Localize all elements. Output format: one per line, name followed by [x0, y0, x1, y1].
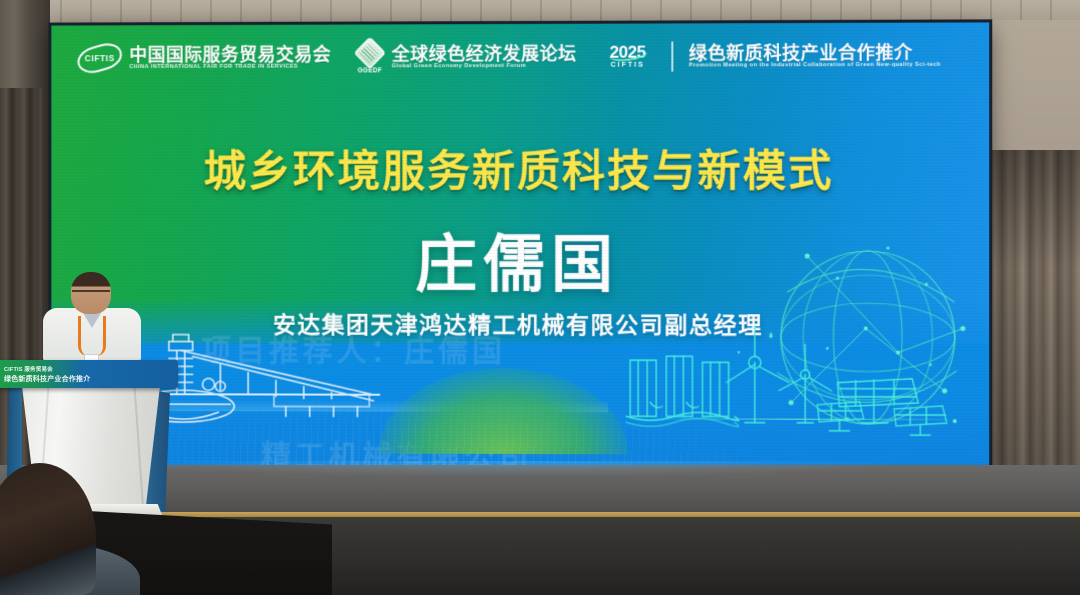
logo-ggedf: GGEDF 全球绿色经济发展论坛 Global Green Economy De… [355, 40, 577, 75]
ggedf-mark-text: GGEDF [354, 67, 386, 74]
presentation-main-title: 城乡环境服务新质科技与新模式 [51, 136, 989, 199]
stage-scene: CIFTIS 中国国际服务贸易交易会 CHINA INTERNATIONAL F… [0, 0, 1080, 595]
speaker-glasses-icon [72, 290, 110, 297]
podium-banner: CIFTIS 服务贸易会 绿色新质科技产业合作推介 [0, 360, 178, 388]
ggedf-diamond-logo-icon: GGEDF [355, 40, 385, 74]
right-curtain [988, 150, 1080, 490]
podium-banner-line-1: CIFTIS 服务贸易会 [4, 365, 90, 373]
ciftis-title-en: CHINA INTERNATIONAL FAIR FOR TRADE IN SE… [129, 64, 331, 71]
podium-banner-line-2: 绿色新质科技产业合作推介 [4, 374, 90, 384]
screen-header-logo-row: CIFTIS 中国国际服务贸易交易会 CHINA INTERNATIONAL F… [51, 22, 989, 91]
logo-ciftis-2025: 2025 CIFTIS 绿色新质科技产业合作推介 Promotion Meeti… [601, 41, 941, 72]
promotion-title-en: Promotion Meeting on the Industrial Coll… [689, 62, 941, 69]
ciftis-leaf-logo-icon: CIFTIS [77, 45, 122, 71]
led-presentation-screen: CIFTIS 中国国际服务贸易交易会 CHINA INTERNATIONAL F… [51, 22, 989, 477]
ggedf-title-en: Global Green Economy Development Forum [392, 63, 577, 70]
promotion-title-cn: 绿色新质科技产业合作推介 [689, 43, 941, 63]
ggedf-title-cn: 全球绿色经济发展论坛 [392, 44, 577, 63]
ciftis-mark-text: CIFTIS [77, 53, 122, 63]
speaker-lanyard [78, 316, 106, 356]
ciftis-title-cn: 中国国际服务贸易交易会 [129, 45, 331, 64]
ciftis-2025-mark-text: CIFTIS [601, 60, 655, 70]
screen-floor-glow [120, 461, 920, 477]
logo-ciftis: CIFTIS 中国国际服务贸易交易会 CHINA INTERNATIONAL F… [77, 45, 331, 72]
logo-divider [671, 42, 673, 72]
renewable-energy-line-art-icon [620, 304, 963, 455]
ciftis-2025-logo-icon: 2025 CIFTIS [601, 43, 655, 70]
